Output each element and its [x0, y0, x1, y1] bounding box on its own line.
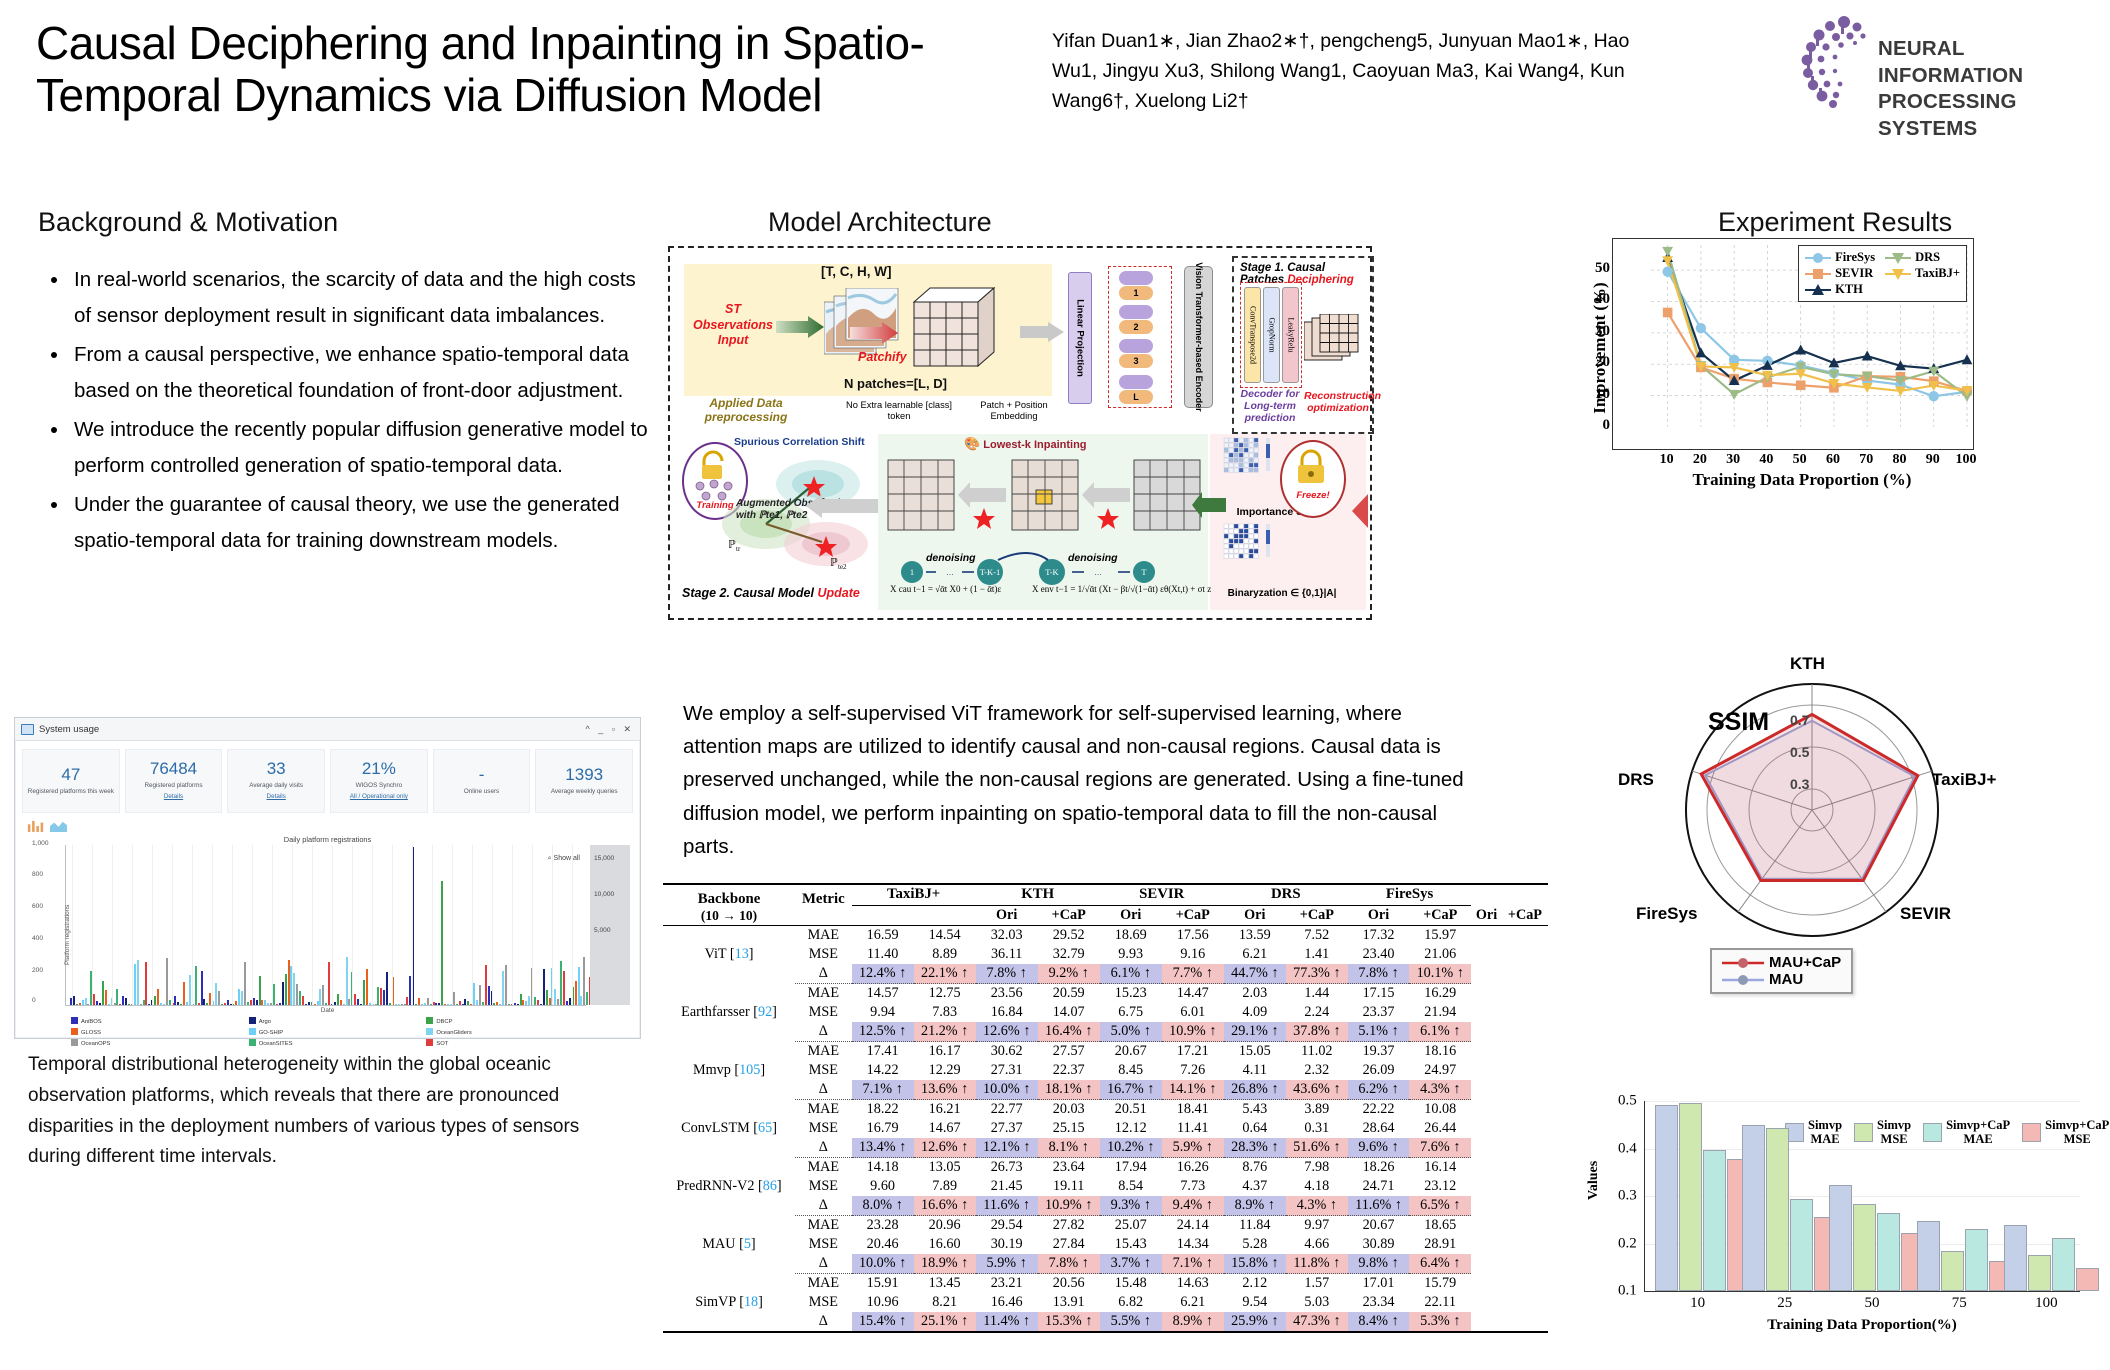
cell-delta: 11.8% ↑ — [1286, 1254, 1348, 1274]
spike-bar — [493, 1003, 495, 1005]
logo-line-1: NEURAL INFORMATION — [1878, 36, 2090, 89]
spike-bar — [308, 1002, 310, 1005]
patch-cube-icon — [908, 286, 998, 372]
x-tick: 20 — [1685, 452, 1715, 468]
line-swatch-icon — [1722, 974, 1764, 986]
cell-mse: 8.54 — [1100, 1177, 1162, 1196]
table-row: PredRNN-V2 [86]MAE14.1813.0526.7323.6417… — [663, 1158, 1548, 1178]
kpi-value: 1393 — [565, 766, 603, 785]
spike-bar — [134, 964, 136, 1005]
kpi-label: WIGOS Synchro — [356, 782, 403, 791]
spike-bar — [398, 1004, 400, 1005]
spike-bar — [514, 1003, 516, 1005]
radar-svg — [1612, 670, 2012, 970]
spike-bar — [154, 996, 156, 1005]
cell-mae: 16.21 — [914, 1100, 976, 1120]
legend-item: GLOSS — [71, 1028, 239, 1036]
cell-mse: 6.82 — [1100, 1293, 1162, 1312]
spike-bar — [337, 994, 339, 1005]
cell-delta: 77.3% ↑ — [1286, 964, 1348, 984]
cell-mae: 18.16 — [1409, 1042, 1471, 1062]
cell-mse: 8.21 — [914, 1293, 976, 1312]
reconstructed-patches-icon — [1304, 314, 1366, 370]
spike-bar — [322, 985, 324, 1005]
cell-delta: 12.1% ↑ — [976, 1138, 1038, 1158]
cell-delta: 8.9% ↑ — [1224, 1196, 1286, 1216]
spike-bar — [82, 1000, 84, 1005]
spike-bar — [114, 1003, 116, 1005]
radar-tick-03: 0.3 — [1790, 776, 1809, 792]
spike-bar — [415, 1004, 417, 1005]
cell-delta: 18.1% ↑ — [1038, 1080, 1100, 1100]
gridline — [252, 845, 253, 1005]
x-tick: 10 — [1652, 452, 1682, 468]
bar — [1790, 1199, 1813, 1291]
spike-bar — [406, 997, 408, 1005]
svg-text:…: … — [946, 568, 954, 577]
cell-mae: 13.59 — [1224, 926, 1286, 946]
cell-delta: 10.1% ↑ — [1409, 964, 1471, 984]
cell-mse: 27.31 — [976, 1061, 1038, 1080]
table-row: ViT [13]MAE16.5914.5432.0329.5218.6917.5… — [663, 926, 1548, 946]
cell-mse: 10.96 — [852, 1293, 914, 1312]
cell-delta: 43.6% ↑ — [1286, 1080, 1348, 1100]
spike-bar — [73, 996, 75, 1005]
bar — [2076, 1268, 2099, 1291]
cell-mae: 2.12 — [1224, 1274, 1286, 1294]
cell-mae: 15.48 — [1100, 1274, 1162, 1294]
spike-bar — [76, 1004, 78, 1005]
spike-bar — [459, 1001, 461, 1005]
spike-bar — [575, 981, 577, 1005]
cell-mse: 36.11 — [976, 945, 1038, 964]
cell-mae: 29.52 — [1038, 926, 1100, 946]
cell-mse: 12.29 — [914, 1061, 976, 1080]
cell-mae: 17.15 — [1348, 984, 1409, 1004]
y-tick: 800 — [32, 871, 43, 878]
spike-bar — [140, 1004, 142, 1005]
spike-bar — [169, 1000, 171, 1005]
spike-bar — [485, 965, 487, 1005]
linear-projection-label: Linear Projection — [1075, 299, 1086, 377]
legend-item: GO-SHIP — [249, 1028, 417, 1036]
gridline — [412, 845, 413, 1005]
cell-mae: 22.22 — [1348, 1100, 1409, 1120]
gridline — [212, 845, 213, 1005]
cell-delta: 10.9% ↑ — [1162, 1022, 1224, 1042]
page-title: Causal Deciphering and Inpainting in Spa… — [36, 18, 986, 121]
cell-mse: 24.97 — [1409, 1061, 1471, 1080]
patch-position-note: Patch + Position Embedding — [964, 400, 1064, 422]
spike-bar — [395, 1004, 397, 1005]
gridline — [92, 845, 93, 1005]
metric-label: MSE — [795, 1235, 852, 1254]
gridline — [452, 845, 453, 1005]
neurips-swirl-icon — [1800, 14, 1880, 110]
table-row: MSE9.947.8316.8414.076.756.014.092.2423.… — [663, 1003, 1548, 1022]
chart-type-toggles[interactable] — [15, 817, 640, 833]
y-tick: 0.1 — [1618, 1283, 1637, 1300]
cell-mae: 30.62 — [976, 1042, 1038, 1062]
gridline — [112, 845, 113, 1005]
table-row: Earthfarsser [92]MAE14.5712.7523.5620.59… — [663, 984, 1548, 1004]
cell-mae: 7.52 — [1286, 926, 1348, 946]
cell-mse: 6.21 — [1162, 1293, 1224, 1312]
metric-label: Δ — [795, 1254, 852, 1274]
spike-bar — [505, 965, 507, 1005]
decoder-caption: Decoder for Long-term prediction — [1234, 388, 1306, 424]
metric-label: Δ — [795, 964, 852, 984]
spike-bar — [302, 996, 304, 1005]
kpi-row: 47 Registered platforms this week 76484 … — [15, 741, 640, 817]
spike-bar — [128, 1004, 130, 1005]
spurious-shift-label: Spurious Correlation Shift — [734, 436, 865, 448]
stage-2-title: Stage 2. Causal Model Update — [682, 586, 860, 600]
dashboard-y-axis-label: Platform registrations — [64, 905, 71, 965]
metric-label: MSE — [795, 1061, 852, 1080]
cell-delta: 8.0% ↑ — [852, 1196, 914, 1216]
cell-mae: 1.44 — [1286, 984, 1348, 1004]
cell-delta: 7.8% ↑ — [976, 964, 1038, 984]
cell-mae: 2.03 — [1224, 984, 1286, 1004]
table-row: MAU [5]MAE23.2820.9629.5427.8225.0724.14… — [663, 1216, 1548, 1236]
x-tick: 40 — [1751, 452, 1781, 468]
svg-text:te2: te2 — [838, 563, 847, 571]
cell-mae: 10.08 — [1409, 1100, 1471, 1120]
kpi-link[interactable]: Details — [164, 793, 183, 802]
subcol-header: Ori — [1224, 905, 1286, 926]
inpainting-cubes-icon — [884, 452, 1204, 552]
cell-delta: 7.6% ↑ — [1409, 1138, 1471, 1158]
spike-bar — [441, 881, 443, 1005]
dashboard-plot-area: Platform registrations 1,000 800 600 400… — [65, 845, 586, 1006]
cell-mae: 14.57 — [852, 984, 914, 1004]
radar-axis-sevir: SEVIR — [1900, 904, 1951, 924]
gridline — [172, 845, 173, 1005]
spike-bar — [288, 960, 290, 1005]
spike-bar — [227, 1000, 229, 1005]
spike-bar — [578, 967, 580, 1005]
spike-bar — [438, 1003, 440, 1005]
logo-line-2: PROCESSING SYSTEMS — [1878, 89, 2090, 142]
cell-mae: 17.01 — [1348, 1274, 1409, 1294]
cell-mse: 9.94 — [852, 1003, 914, 1022]
spike-bar — [583, 957, 585, 1005]
cell-mse: 21.94 — [1409, 1003, 1471, 1022]
spike-bar — [502, 971, 504, 1005]
cell-delta: 5.9% ↑ — [1162, 1138, 1224, 1158]
row-backbone: Earthfarsser [92] — [663, 984, 795, 1042]
cell-delta: 51.6% ↑ — [1286, 1138, 1348, 1158]
cell-mse: 16.84 — [976, 1003, 1038, 1022]
bar — [1965, 1229, 1988, 1291]
cell-mse: 27.84 — [1038, 1235, 1100, 1254]
cell-delta: 6.1% ↑ — [1100, 964, 1162, 984]
decoder-box: ConvTranspose2d GropNorm LeakyRelu — [1240, 282, 1302, 388]
gridline — [272, 845, 273, 1005]
right-tick: 5,000 — [594, 927, 611, 934]
metric-label: MAE — [795, 1274, 852, 1294]
bar-x-axis-title: Training Data Proportion(%) — [1644, 1317, 2080, 1334]
cell-delta: 16.4% ↑ — [1038, 1022, 1100, 1042]
spike-bar — [557, 999, 559, 1005]
svg-text:ℙ: ℙ — [728, 539, 736, 551]
dashboard-legend: AniBOSArgoDBCPGLOSSGO-SHIPOceanGlidersOc… — [25, 1014, 630, 1047]
kpi-link[interactable]: All / Operational only — [350, 793, 408, 802]
table-row: Δ7.1% ↑13.6% ↑10.0% ↑18.1% ↑16.7% ↑14.1%… — [663, 1080, 1548, 1100]
cell-mse: 27.37 — [976, 1119, 1038, 1138]
bar-y-axis-title: Values — [1586, 1161, 1602, 1200]
cell-mae: 14.47 — [1162, 984, 1224, 1004]
bar-chart-icon[interactable] — [27, 819, 44, 833]
spike-bar — [554, 989, 556, 1005]
cell-mse: 22.11 — [1409, 1293, 1471, 1312]
metric-label: Δ — [795, 1080, 852, 1100]
metric-label: MAE — [795, 926, 852, 946]
lowest-k-inpainting-label: 🎨 Lowest-k Inpainting — [964, 436, 1087, 452]
spike-bar — [238, 989, 240, 1005]
cell-mae: 16.17 — [914, 1042, 976, 1062]
bar-group — [1742, 1101, 1837, 1291]
position-token: 2 — [1119, 320, 1153, 334]
y-tick: 200 — [32, 967, 43, 974]
cell-mae: 16.26 — [1162, 1158, 1224, 1178]
right-axis-band: 15,00010,0005,000 — [590, 845, 630, 1005]
cell-mse: 7.26 — [1162, 1061, 1224, 1080]
spike-bar — [546, 990, 548, 1005]
gridline — [72, 845, 73, 1005]
pink-arrow-icon — [850, 322, 898, 344]
subcol-header: +CaP — [1038, 905, 1100, 926]
simvp-bar-chart: Values SimvpMAESimvpMSESimvp+CaPMAESimvp… — [1590, 1095, 2090, 1350]
list-item: We introduce the recently popular diffus… — [70, 412, 656, 485]
cell-mse: 2.24 — [1286, 1003, 1348, 1022]
gridline — [312, 845, 313, 1005]
spike-bar — [409, 976, 411, 1005]
spike-bar — [366, 969, 368, 1005]
spike-bar — [473, 983, 475, 1005]
cell-mae: 12.75 — [914, 984, 976, 1004]
patchify-label: Patchify — [858, 350, 907, 364]
spike-bar — [319, 989, 321, 1005]
cell-delta: 5.9% ↑ — [976, 1254, 1038, 1274]
cell-mae: 20.96 — [914, 1216, 976, 1236]
spike-bar — [198, 1003, 200, 1005]
cell-mae: 15.79 — [1409, 1274, 1471, 1294]
spike-bar — [357, 999, 359, 1005]
gridline — [292, 845, 293, 1005]
cell-mae: 18.41 — [1162, 1100, 1224, 1120]
gridline — [432, 845, 433, 1005]
cell-mae: 24.14 — [1162, 1216, 1224, 1236]
bar-group — [1917, 1101, 2012, 1291]
cell-delta: 7.7% ↑ — [1162, 964, 1224, 984]
gridline — [132, 845, 133, 1005]
cell-mae: 17.94 — [1100, 1158, 1162, 1178]
cell-delta: 6.5% ↑ — [1409, 1196, 1471, 1216]
table-row: MSE10.968.2116.4613.916.826.219.545.0323… — [663, 1293, 1548, 1312]
gridline — [392, 845, 393, 1005]
architecture-figure: [T, C, H, W] ST Observations Input Appli… — [668, 246, 1372, 620]
cell-mse: 26.09 — [1348, 1061, 1409, 1080]
cell-mae: 3.89 — [1286, 1100, 1348, 1120]
svg-text:T-K: T-K — [1045, 567, 1059, 577]
cell-mae: 18.22 — [852, 1100, 914, 1120]
cell-mae: 18.65 — [1409, 1216, 1471, 1236]
bar — [1742, 1125, 1765, 1291]
cell-mse: 21.06 — [1409, 945, 1471, 964]
cell-delta: 9.8% ↑ — [1348, 1254, 1409, 1274]
cell-mse: 9.16 — [1162, 945, 1224, 964]
radar-tick-07: 0.7 — [1790, 712, 1809, 728]
cell-delta: 37.8% ↑ — [1286, 1022, 1348, 1042]
metric-label: MAE — [795, 1100, 852, 1120]
cell-delta: 5.1% ↑ — [1348, 1022, 1409, 1042]
decoder-layer: ConvTranspose2d — [1244, 287, 1261, 383]
cell-delta: 5.3% ↑ — [1409, 1312, 1471, 1332]
spike-bar — [549, 998, 551, 1005]
spike-bar — [517, 1004, 519, 1005]
cell-mse: 2.32 — [1286, 1061, 1348, 1080]
kpi-card: 1393 Average weekly queries — [535, 749, 633, 813]
window-controls[interactable]: ^ _ ▫ ✕ — [586, 724, 634, 735]
legend-item: DBCP — [426, 1017, 594, 1025]
cell-delta: 14.1% ↑ — [1162, 1080, 1224, 1100]
cell-mse: 23.34 — [1348, 1293, 1409, 1312]
decoder-layer: GropNorm — [1263, 287, 1280, 383]
line-y-axis-title: Improvement (%) — [1590, 258, 1610, 438]
cell-mse: 32.79 — [1038, 945, 1100, 964]
section-heading-architecture: Model Architecture — [768, 207, 992, 238]
spike-bar — [418, 998, 420, 1005]
x-tick: 10 — [1654, 1295, 1741, 1312]
spike-bar — [203, 999, 205, 1005]
metric-label: MAE — [795, 1158, 852, 1178]
spike-bar — [543, 969, 545, 1005]
spike-bar — [259, 976, 261, 1005]
line-x-axis-title: Training Data Proportion (%) — [1652, 470, 1952, 490]
cell-delta: 12.6% ↑ — [914, 1138, 976, 1158]
table-row: MSE16.7914.6727.3725.1512.1211.410.640.3… — [663, 1119, 1548, 1138]
bar — [1655, 1105, 1678, 1291]
spike-bar — [276, 1004, 278, 1005]
spike-bar — [401, 1004, 403, 1005]
spike-bar — [479, 985, 481, 1005]
token-sequence-box: 1 2 3 … L — [1108, 266, 1172, 408]
spike-bar — [453, 992, 455, 1005]
cell-mse: 14.22 — [852, 1061, 914, 1080]
poster-root: Causal Deciphering and Inpainting in Spa… — [0, 0, 2110, 1370]
cell-mse: 5.03 — [1286, 1293, 1348, 1312]
bar — [2052, 1238, 2075, 1291]
spike-bar — [247, 1002, 249, 1005]
cell-mae: 7.98 — [1286, 1158, 1348, 1178]
cell-mae: 20.67 — [1348, 1216, 1409, 1236]
cell-delta: 9.4% ↑ — [1162, 1196, 1224, 1216]
y-tick: 0.3 — [1618, 1188, 1637, 1205]
kpi-card: - Online users — [433, 749, 531, 813]
gridline — [352, 845, 353, 1005]
table-row: MSE9.607.8921.4519.118.547.734.374.1824.… — [663, 1177, 1548, 1196]
spike-bar — [325, 1003, 327, 1005]
spike-bar — [279, 1003, 281, 1005]
dashboard-screenshot: System usage ^ _ ▫ ✕ 47 Registered platf… — [14, 717, 641, 1039]
col-firesys: FireSys — [1348, 884, 1471, 905]
cell-mse: 20.46 — [852, 1235, 914, 1254]
cell-delta: 10.0% ↑ — [852, 1254, 914, 1274]
cell-delta: 6.2% ↑ — [1348, 1080, 1409, 1100]
cell-delta: 16.7% ↑ — [1100, 1080, 1162, 1100]
spike-bar — [273, 984, 275, 1005]
cell-mse: 24.71 — [1348, 1177, 1409, 1196]
cell-mse: 16.60 — [914, 1235, 976, 1254]
kpi-label: Average weekly queries — [551, 788, 618, 797]
bar — [1766, 1128, 1789, 1292]
row-backbone: ViT [13] — [663, 926, 795, 984]
legend-item: OceanGliders — [426, 1028, 594, 1036]
ssim-radar-chart: KTH TaxiBJ+ SEVIR FireSys DRS SSIM 0.7 0… — [1612, 660, 2012, 1050]
svg-text:tr: tr — [736, 545, 741, 553]
spike-bar — [383, 990, 385, 1005]
metric-label: Δ — [795, 1196, 852, 1216]
x-tick: 25 — [1741, 1295, 1828, 1312]
cell-delta: 29.1% ↑ — [1224, 1022, 1286, 1042]
cell-mse: 14.07 — [1038, 1003, 1100, 1022]
cell-delta: 8.9% ↑ — [1162, 1312, 1224, 1332]
dashboard-chart: Daily platform registrations 2016 2017 2… — [25, 835, 630, 1017]
spike-bar — [261, 1000, 263, 1005]
cell-mse: 23.12 — [1409, 1177, 1471, 1196]
gridline — [512, 845, 513, 1005]
spike-bar — [456, 1004, 458, 1005]
cell-mae: 18.26 — [1348, 1158, 1409, 1178]
kpi-card: 21% WIGOS Synchro All / Operational only — [330, 749, 428, 813]
svg-text:ℙ: ℙ — [830, 557, 838, 569]
cell-delta: 15.8% ↑ — [1224, 1254, 1286, 1274]
spike-bar — [340, 1000, 342, 1005]
area-chart-icon[interactable] — [50, 819, 67, 833]
spike-bar — [389, 1003, 391, 1005]
cell-delta: 6.4% ↑ — [1409, 1254, 1471, 1274]
cell-delta: 7.8% ↑ — [1038, 1254, 1100, 1274]
spike-bar — [540, 1004, 542, 1005]
spike-bar — [427, 998, 429, 1005]
x-tick: 90 — [1918, 452, 1948, 468]
spike-bar — [244, 962, 246, 1005]
row-backbone: Mmvp [105] — [663, 1042, 795, 1100]
cell-mse: 22.37 — [1038, 1061, 1100, 1080]
red-arrow-icon — [1352, 494, 1368, 528]
cell-delta: 8.4% ↑ — [1348, 1312, 1409, 1332]
equation-env: X env t−1 = 1/√ᾱt (Xt − βt/√(1−ᾱt) εθ(Xt… — [1032, 584, 1211, 594]
bar-group — [1655, 1101, 1750, 1291]
cell-mse: 4.66 — [1286, 1235, 1348, 1254]
kpi-link[interactable]: Details — [267, 793, 286, 802]
applied-data-label: Applied Data preprocessing — [686, 396, 806, 425]
cell-delta: 44.7% ↑ — [1224, 964, 1286, 984]
freeze-badge: Freeze! — [1280, 440, 1346, 518]
cell-mse: 23.37 — [1348, 1003, 1409, 1022]
spike-bar — [116, 989, 118, 1005]
spike-bar — [377, 987, 379, 1005]
subcol-header: Ori — [976, 905, 1038, 926]
spike-bar — [218, 991, 220, 1005]
kpi-label: Average daily visits — [249, 782, 303, 791]
cell-mse: 19.11 — [1038, 1177, 1100, 1196]
cell-mse: 4.37 — [1224, 1177, 1286, 1196]
monitor-icon — [21, 724, 34, 735]
cell-mae: 29.54 — [976, 1216, 1038, 1236]
